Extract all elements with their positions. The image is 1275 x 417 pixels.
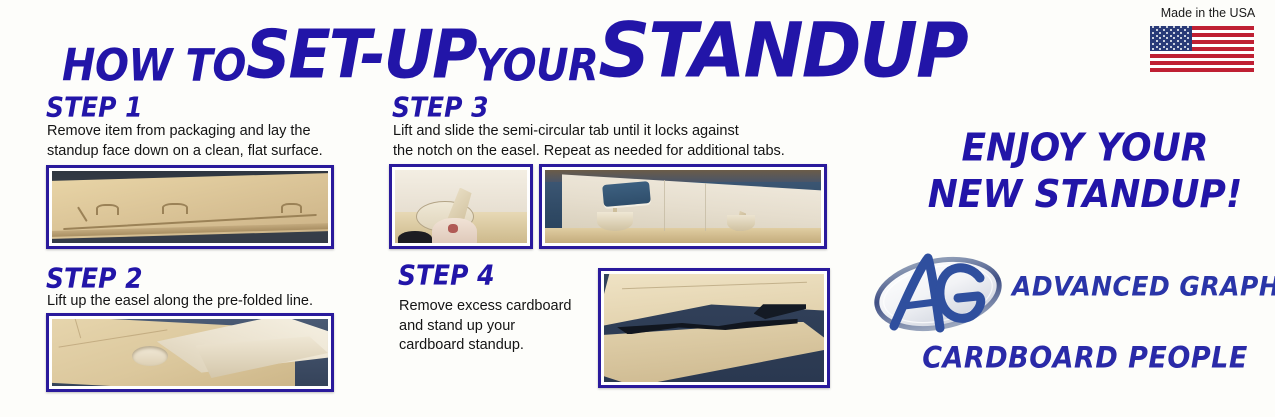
flag-star bbox=[1159, 43, 1161, 45]
flag-star bbox=[1173, 37, 1175, 39]
flag-star bbox=[1184, 40, 1186, 42]
flag-star bbox=[1152, 37, 1154, 39]
flag-star bbox=[1184, 46, 1186, 48]
made-in-usa-badge: Made in the USA bbox=[1150, 6, 1266, 72]
step-3-photo-right bbox=[539, 164, 827, 249]
flag-star bbox=[1163, 40, 1165, 42]
tagline: CARDBOARD PEOPLE bbox=[905, 342, 1265, 375]
flag-star bbox=[1187, 43, 1189, 45]
step-1-heading: STEP 1 bbox=[46, 91, 143, 123]
flag-star bbox=[1166, 37, 1168, 39]
step-1-photo bbox=[46, 165, 334, 249]
step-4-photo bbox=[598, 268, 830, 388]
flag-star bbox=[1170, 35, 1172, 37]
advanced-graphics-ag-logo bbox=[872, 250, 1004, 338]
flag-star bbox=[1187, 48, 1189, 50]
step-2-body: Lift up the easel along the pre-folded l… bbox=[47, 292, 367, 312]
step-3-heading: STEP 3 bbox=[392, 91, 489, 123]
flag-star bbox=[1159, 26, 1161, 28]
flag-star bbox=[1159, 37, 1161, 39]
flag-star bbox=[1180, 32, 1182, 34]
flag-star bbox=[1152, 48, 1154, 50]
company-name: ADVANCED GRAPHICS bbox=[1012, 271, 1275, 302]
step-2-photo bbox=[46, 313, 334, 392]
flag-star bbox=[1156, 46, 1158, 48]
page-title: HOW TO SET-UP YOUR STANDUP bbox=[62, 14, 967, 86]
flag-star bbox=[1152, 32, 1154, 34]
flag-star bbox=[1184, 29, 1186, 31]
flag-star bbox=[1170, 29, 1172, 31]
flag-star bbox=[1159, 48, 1161, 50]
instruction-sheet: HOW TO SET-UP YOUR STANDUP Made in the U… bbox=[0, 0, 1275, 417]
step-3-photo-left bbox=[389, 164, 533, 249]
title-part-your: YOUR bbox=[476, 44, 599, 89]
flag-star bbox=[1180, 43, 1182, 45]
step-2-heading: STEP 2 bbox=[46, 262, 143, 294]
flag-star bbox=[1163, 35, 1165, 37]
flag-star bbox=[1180, 48, 1182, 50]
us-flag-icon bbox=[1150, 26, 1254, 72]
flag-star bbox=[1177, 40, 1179, 42]
flag-star bbox=[1156, 40, 1158, 42]
flag-star bbox=[1173, 43, 1175, 45]
flag-star bbox=[1152, 43, 1154, 45]
flag-star bbox=[1159, 32, 1161, 34]
flag-star bbox=[1152, 26, 1154, 28]
flag-star bbox=[1166, 32, 1168, 34]
step-4-heading: STEP 4 bbox=[398, 259, 495, 291]
enjoy-message: ENJOY YOUR NEW STANDUP! bbox=[905, 125, 1265, 218]
flag-canton bbox=[1150, 26, 1192, 51]
flag-star bbox=[1180, 37, 1182, 39]
flag-star bbox=[1184, 35, 1186, 37]
flag-star bbox=[1187, 32, 1189, 34]
flag-star bbox=[1166, 43, 1168, 45]
flag-star bbox=[1156, 29, 1158, 31]
flag-star bbox=[1170, 40, 1172, 42]
flag-star bbox=[1187, 26, 1189, 28]
flag-stripe bbox=[1150, 68, 1254, 72]
flag-star bbox=[1173, 26, 1175, 28]
flag-star bbox=[1166, 48, 1168, 50]
flag-stripe bbox=[1150, 61, 1254, 65]
flag-star bbox=[1156, 35, 1158, 37]
flag-star bbox=[1163, 29, 1165, 31]
flag-star bbox=[1170, 46, 1172, 48]
step-3-body: Lift and slide the semi-circular tab unt… bbox=[393, 122, 843, 161]
flag-star bbox=[1177, 29, 1179, 31]
made-in-usa-label: Made in the USA bbox=[1150, 6, 1266, 20]
flag-star bbox=[1180, 26, 1182, 28]
title-part-set-up: SET-UP bbox=[246, 22, 476, 89]
title-part-standup: STANDUP bbox=[598, 12, 966, 88]
step-1-body: Remove item from packaging and lay the s… bbox=[47, 122, 367, 161]
flag-star bbox=[1173, 48, 1175, 50]
flag-star bbox=[1173, 32, 1175, 34]
flag-star bbox=[1177, 46, 1179, 48]
flag-stripe bbox=[1150, 54, 1254, 58]
step-4-body: Remove excess cardboard and stand up you… bbox=[399, 297, 609, 356]
flag-star bbox=[1187, 37, 1189, 39]
flag-star bbox=[1166, 26, 1168, 28]
flag-star bbox=[1177, 35, 1179, 37]
title-part-how-to: HOW TO bbox=[62, 44, 246, 89]
flag-star bbox=[1163, 46, 1165, 48]
